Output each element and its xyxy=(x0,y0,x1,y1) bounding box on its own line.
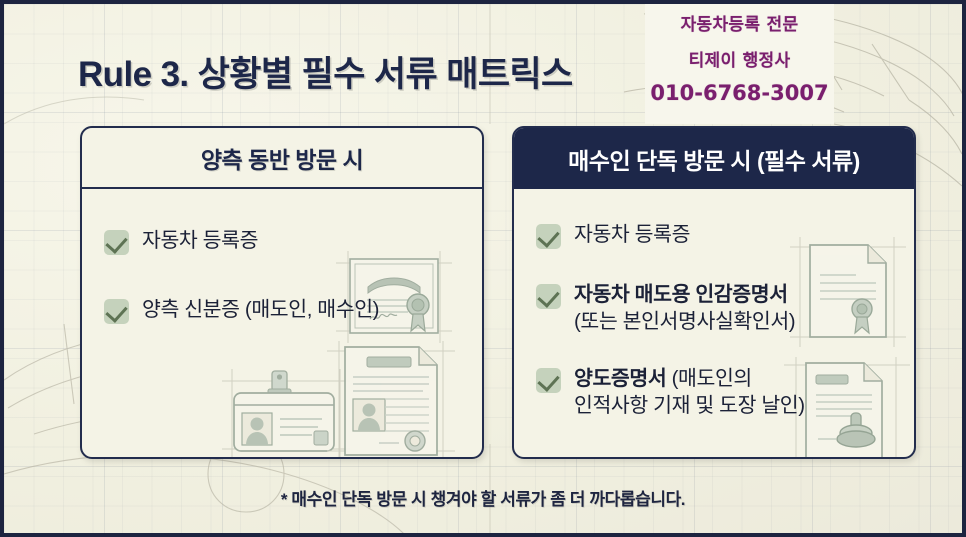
watermark-line-2: 티제이 행정사 xyxy=(689,46,791,71)
list-item: 자동차 매도용 인감증명서 (또는 본인서명사실확인서) xyxy=(514,281,914,335)
page-title: Rule 3. 상황별 필수 서류 매트릭스 xyxy=(78,46,573,97)
list-item: 자동차 등록증 xyxy=(82,227,482,255)
check-icon xyxy=(536,224,561,249)
card-left-body: 자동차 등록증 양측 신분증 (매도인, 매수인) xyxy=(82,189,482,459)
check-icon xyxy=(104,230,129,255)
list-item-sub: 인적사항 기재 및 도장 날인) xyxy=(574,392,805,419)
id-document-with-photo-icon xyxy=(327,341,455,459)
footer-note: * 매수인 단독 방문 시 챙겨야 할 서류가 좀 더 까다롭습니다. xyxy=(4,485,962,510)
list-item-label: 자동차 매도용 인감증명서 (또는 본인서명사실확인서) xyxy=(574,281,795,335)
list-item-sub-inline: (매도인의 xyxy=(666,367,752,390)
list-item-sub: (또는 본인서명사실확인서) xyxy=(574,308,795,335)
slide-canvas: 자동차등록 전문 티제이 행정사 010-6768-3007 Rule 3. 상… xyxy=(0,0,966,537)
card-both-parties-visit: 양측 동반 방문 시 xyxy=(80,126,484,459)
list-item-label: 자동차 등록증 xyxy=(142,227,258,254)
card-right-header: 매수인 단독 방문 시 (필수 서류) xyxy=(514,128,914,189)
check-icon xyxy=(536,368,561,393)
check-icon xyxy=(536,284,561,309)
watermark-line-1: 자동차등록 전문 xyxy=(681,10,799,35)
card-right-body: 자동차 등록증 자동차 매도용 인감증명서 (또는 본인서명사실확인서) 양도증… xyxy=(514,189,914,459)
list-item: 자동차 등록증 xyxy=(514,221,914,249)
list-item-main: 자동차 매도용 인감증명서 xyxy=(574,283,788,306)
list-item: 양측 신분증 (매도인, 매수인) xyxy=(82,296,482,324)
card-left-header: 양측 동반 방문 시 xyxy=(82,128,482,189)
watermark-phone: 010-6768-3007 xyxy=(650,81,828,105)
list-item-label: 양도증명서 (매도인의 인적사항 기재 및 도장 날인) xyxy=(574,365,805,419)
card-buyer-alone-visit: 매수인 단독 방문 시 (필수 서류) xyxy=(512,126,916,459)
list-item-label: 양측 신분증 (매도인, 매수인) xyxy=(142,296,379,323)
list-item-main: 양도증명서 xyxy=(574,367,666,390)
list-item-label: 자동차 등록증 xyxy=(574,221,690,248)
list-item: 양도증명서 (매도인의 인적사항 기재 및 도장 날인) xyxy=(514,365,914,419)
check-icon xyxy=(104,299,129,324)
watermark-contact-block: 자동차등록 전문 티제이 행정사 010-6768-3007 xyxy=(645,4,834,124)
